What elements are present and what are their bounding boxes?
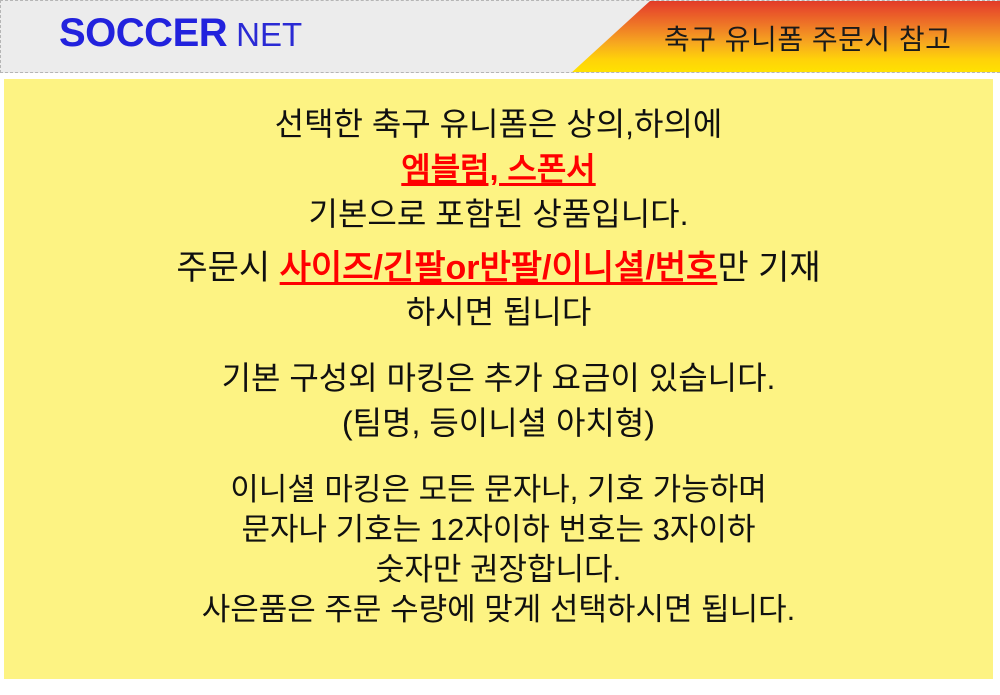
notice-line-8: 이니셜 마킹은 모든 문자나, 기호 가능하며: [4, 464, 993, 509]
notice-line-9: 문자나 기호는 12자이하 번호는 3자이하: [4, 504, 993, 549]
header-gradient-banner: 축구 유니폼 주문시 참고: [570, 1, 1000, 73]
notice-line-10: 숫자만 권장합니다.: [4, 544, 993, 589]
notice-line-5: 하시면 됩니다: [4, 287, 993, 333]
notice-line-6: 기본 구성외 마킹은 추가 요금이 있습니다.: [4, 353, 993, 399]
notice-line-11: 사은품은 주문 수량에 맞게 선택하시면 됩니다.: [4, 584, 993, 629]
notice-line-4-suffix: 만 기재: [717, 249, 820, 287]
notice-line-4: 주문시 사이즈/긴팔or반팔/이니셜/번호만 기재: [4, 240, 993, 289]
notice-panel: 선택한 축구 유니폼은 상의,하의에 엠블럼, 스폰서 기본으로 포함된 상품입…: [4, 79, 993, 679]
notice-page: SOCCERNET 축구 유니폼 주문시 참고 선택한 축구 유니폼은 상의,하…: [0, 0, 1000, 695]
site-logo[interactable]: SOCCERNET: [59, 13, 302, 53]
site-header: SOCCERNET 축구 유니폼 주문시 참고: [0, 0, 1000, 73]
emphasis-order-details: 사이즈/긴팔or반팔/이니셜/번호: [280, 249, 718, 287]
notice-line-2: 엠블럼, 스폰서: [4, 144, 993, 190]
banner-title: 축구 유니폼 주문시 참고: [664, 18, 951, 58]
notice-line-1: 선택한 축구 유니폼은 상의,하의에: [4, 99, 993, 145]
notice-line-3: 기본으로 포함된 상품입니다.: [4, 189, 993, 235]
notice-line-7: (팀명, 등이니셜 아치형): [4, 398, 993, 444]
logo-text-secondary: NET: [236, 16, 302, 53]
emphasis-emblem-sponsor: 엠블럼, 스폰서: [401, 151, 595, 187]
logo-text-primary: SOCCER: [59, 11, 227, 55]
notice-line-4-prefix: 주문시: [176, 249, 279, 287]
